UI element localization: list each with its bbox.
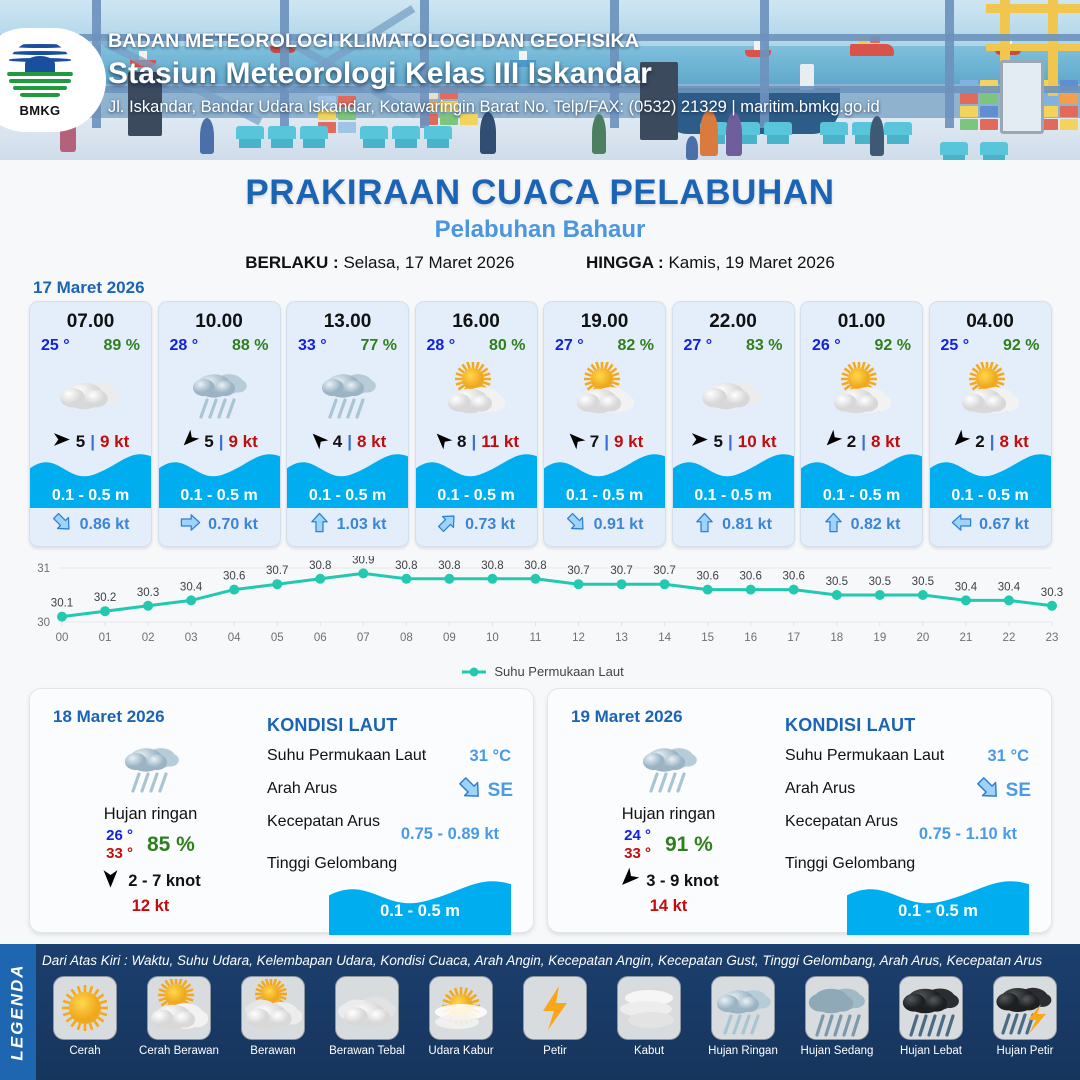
card-temperature: 33 ° [298, 337, 327, 355]
current-direction-icon [566, 512, 587, 538]
card-time: 01.00 [838, 311, 886, 333]
current-speed: 1.03 kt [337, 516, 387, 534]
legend-item-label: Cerah Berawan [139, 1045, 219, 1057]
legend-items-row: Cerah Cerah Berawan Berawan Berawan Teba… [42, 976, 1078, 1076]
panel-wind-range: 3 - 9 knot [646, 872, 718, 891]
card-humidity: 92 % [1003, 337, 1039, 355]
svg-text:30.2: 30.2 [94, 592, 116, 604]
crane-beam [986, 44, 1080, 51]
card-humidity: 83 % [746, 337, 782, 355]
svg-text:30.8: 30.8 [481, 560, 503, 572]
svg-text:30.5: 30.5 [869, 576, 891, 588]
hourly-card[interactable]: 13.00 33 ° 77 % 4 | 8 kt 0.1 - 0.5 m 1.0… [286, 301, 409, 547]
svg-text:07: 07 [357, 632, 370, 644]
daily-forecast-panel[interactable]: 19 Maret 2026 Hujan ringan 24 ° 33 ° 91 … [547, 688, 1052, 933]
card-time: 22.00 [709, 311, 757, 333]
legend-item: Cerah Berawan [136, 976, 222, 1076]
svg-text:30: 30 [37, 617, 50, 629]
legend-item-label: Kabut [634, 1045, 664, 1057]
sea-condition-heading: KONDISI LAUT [267, 715, 519, 736]
legend-item-label: Berawan [250, 1045, 295, 1057]
svg-text:30.7: 30.7 [653, 565, 675, 577]
svg-text:30.8: 30.8 [395, 560, 417, 572]
current-speed: 0.70 kt [208, 516, 258, 534]
card-weather-icon [825, 361, 899, 423]
card-time: 04.00 [966, 311, 1014, 333]
card-time: 19.00 [581, 311, 629, 333]
legend-item: Hujan Ringan [700, 976, 786, 1076]
card-temperature: 25 ° [41, 337, 70, 355]
svg-text:30.7: 30.7 [610, 565, 632, 577]
valid-from-value: Selasa, 17 Maret 2026 [343, 253, 514, 272]
current-speed: 0.73 kt [465, 516, 515, 534]
card-temperature: 28 ° [427, 337, 456, 355]
svg-text:30.3: 30.3 [1041, 587, 1063, 599]
panel-weather-icon [48, 729, 253, 803]
card-weather-icon [439, 361, 513, 423]
hourly-card[interactable]: 22.00 27 ° 83 % 5 | 10 kt 0.1 - 0.5 m 0.… [672, 301, 795, 547]
legend-note: Dari Atas Kiri : Waktu, Suhu Udara, Kele… [42, 953, 1042, 968]
svg-text:14: 14 [658, 632, 671, 644]
legend-section: LEGENDA Dari Atas Kiri : Waktu, Suhu Uda… [0, 944, 1080, 1080]
wave-height: 0.1 - 0.5 m [801, 487, 922, 505]
card-humidity: 88 % [232, 337, 268, 355]
svg-text:30.8: 30.8 [524, 560, 546, 572]
current-speed: 0.91 kt [594, 516, 644, 534]
wave-height: 0.1 - 0.5 m [159, 487, 280, 505]
person-figure [686, 136, 698, 160]
current-direction-value: SE [1006, 780, 1031, 802]
svg-text:12: 12 [572, 632, 585, 644]
hourly-date-label: 17 Maret 2026 [33, 278, 145, 298]
legend-item-label: Petir [543, 1045, 567, 1057]
panel-date: 18 Maret 2026 [53, 707, 165, 727]
chart-legend-marker [461, 666, 487, 678]
current-direction-icon [951, 512, 972, 538]
current-direction-icon [437, 512, 458, 538]
panel-temp-min: 26 ° [106, 827, 133, 845]
current-direction-value: SE [488, 780, 513, 802]
legend-item: Berawan [230, 976, 316, 1076]
svg-text:30.3: 30.3 [137, 587, 159, 599]
legend-item: Hujan Lebat [888, 976, 974, 1076]
card-temperature: 25 ° [941, 337, 970, 355]
panel-temp-max: 33 ° [106, 845, 133, 863]
legend-item: Udara Kabur [418, 976, 504, 1076]
page-header: BMKG BADAN METEOROLOGI KLIMATOLOGI DAN G… [0, 0, 1080, 160]
panel-condition: Hujan ringan [48, 805, 253, 824]
sea-condition-heading: KONDISI LAUT [785, 715, 1037, 736]
svg-text:30.4: 30.4 [998, 581, 1021, 593]
panel-current-direction-icon [458, 776, 483, 806]
svg-text:30.8: 30.8 [309, 560, 331, 572]
card-time: 07.00 [67, 311, 115, 333]
svg-text:31: 31 [37, 563, 50, 575]
svg-text:05: 05 [271, 632, 284, 644]
legend-item-label: Hujan Ringan [708, 1045, 778, 1057]
svg-text:18: 18 [830, 632, 843, 644]
legend-item-label: Udara Kabur [428, 1045, 493, 1057]
panel-gust: 14 kt [566, 897, 771, 916]
svg-text:22: 22 [1003, 632, 1016, 644]
wave-height: 0.1 - 0.5 m [30, 487, 151, 505]
current-speed-value: 0.75 - 0.89 kt [401, 825, 499, 844]
bmkg-logo: BMKG [0, 28, 106, 132]
current-direction-label: Arah Arus [785, 780, 855, 797]
legend-icon-hujan-ringan [711, 976, 775, 1040]
svg-text:30.6: 30.6 [740, 571, 762, 583]
card-weather-icon [182, 361, 256, 423]
card-weather-icon [54, 361, 128, 423]
legend-icon-cerah [53, 976, 117, 1040]
current-speed-value: 0.75 - 1.10 kt [919, 825, 1017, 844]
card-humidity: 77 % [361, 337, 397, 355]
legend-item-label: Cerah [69, 1045, 100, 1057]
svg-text:19: 19 [873, 632, 886, 644]
current-direction-icon [694, 512, 715, 538]
svg-text:23: 23 [1046, 632, 1059, 644]
header-station-name: Stasiun Meteorologi Kelas III Iskandar [108, 57, 880, 91]
header-organization: BADAN METEOROLOGI KLIMATOLOGI DAN GEOFIS… [108, 30, 880, 53]
hourly-card[interactable]: 16.00 28 ° 80 % 8 | 11 kt 0.1 - 0.5 m 0.… [415, 301, 538, 547]
current-speed: 0.82 kt [851, 516, 901, 534]
current-direction-icon [180, 512, 201, 538]
svg-text:30.6: 30.6 [696, 571, 718, 583]
person-figure [200, 118, 214, 154]
svg-text:30.5: 30.5 [826, 576, 848, 588]
card-humidity: 80 % [489, 337, 525, 355]
display-panel [1000, 60, 1044, 134]
chart-legend-label: Suhu Permukaan Laut [494, 664, 623, 679]
card-time: 13.00 [324, 311, 372, 333]
svg-text:30.4: 30.4 [955, 581, 978, 593]
card-weather-icon [696, 361, 770, 423]
valid-from-label: BERLAKU : [245, 253, 339, 272]
card-temperature: 27 ° [684, 337, 713, 355]
card-humidity: 82 % [618, 337, 654, 355]
daily-forecast-panel[interactable]: 18 Maret 2026 Hujan ringan 26 ° 33 ° 85 … [29, 688, 534, 933]
current-direction-icon [823, 512, 844, 538]
sst-chart: 303130.10030.20130.30230.40330.60430.705… [20, 556, 1065, 681]
svg-text:21: 21 [960, 632, 973, 644]
panel-gust: 12 kt [48, 897, 253, 916]
card-humidity: 92 % [875, 337, 911, 355]
card-temperature: 27 ° [555, 337, 584, 355]
svg-text:20: 20 [916, 632, 929, 644]
valid-until-value: Kamis, 19 Maret 2026 [668, 253, 834, 272]
legend-item-label: Hujan Lebat [900, 1045, 962, 1057]
svg-text:04: 04 [228, 632, 241, 644]
legend-item: Hujan Petir [982, 976, 1068, 1076]
daily-forecast-row: 18 Maret 2026 Hujan ringan 26 ° 33 ° 85 … [29, 688, 1053, 933]
svg-text:13: 13 [615, 632, 628, 644]
panel-wind-range: 2 - 7 knot [128, 872, 200, 891]
wave-height: 0.1 - 0.5 m [416, 487, 537, 505]
validity-row: BERLAKU : Selasa, 17 Maret 2026 HINGGA :… [0, 253, 1080, 273]
svg-text:30.5: 30.5 [912, 576, 934, 588]
card-temperature: 26 ° [812, 337, 841, 355]
card-humidity: 89 % [104, 337, 140, 355]
wave-height: 0.1 - 0.5 m [287, 487, 408, 505]
legend-item-label: Hujan Sedang [801, 1045, 874, 1057]
panel-temp-max: 33 ° [624, 845, 651, 863]
person-figure [480, 112, 496, 154]
valid-until-label: HINGGA : [586, 253, 664, 272]
current-direction-icon [309, 512, 330, 538]
card-time: 10.00 [195, 311, 243, 333]
svg-text:01: 01 [99, 632, 112, 644]
legend-item-label: Berawan Tebal [329, 1045, 405, 1057]
person-figure [870, 116, 884, 156]
bmkg-logo-text: BMKG [20, 103, 61, 118]
svg-text:03: 03 [185, 632, 198, 644]
panel-condition: Hujan ringan [566, 805, 771, 824]
person-figure [592, 114, 606, 154]
panel-humidity: 91 % [665, 833, 713, 857]
svg-text:11: 11 [530, 632, 542, 644]
current-speed: 0.81 kt [722, 516, 772, 534]
hourly-card[interactable]: 19.00 27 ° 82 % 7 | 9 kt 0.1 - 0.5 m 0.9… [543, 301, 666, 547]
current-speed: 0.67 kt [979, 516, 1029, 534]
header-text-block: BADAN METEOROLOGI KLIMATOLOGI DAN GEOFIS… [108, 30, 880, 117]
card-weather-icon [953, 361, 1027, 423]
svg-text:02: 02 [142, 632, 155, 644]
svg-text:30.6: 30.6 [223, 571, 245, 583]
legend-item: Berawan Tebal [324, 976, 410, 1076]
panel-current-direction-icon [976, 776, 1001, 806]
wave-height: 0.1 - 0.5 m [673, 487, 794, 505]
sst-value: 31 °C [470, 747, 511, 766]
legend-icon-berawan-sun [241, 976, 305, 1040]
panel-date: 19 Maret 2026 [571, 707, 683, 727]
legend-icon-petir [523, 976, 587, 1040]
sst-value: 31 °C [988, 747, 1029, 766]
panel-wave-value: 0.1 - 0.5 m [847, 902, 1029, 921]
svg-text:16: 16 [744, 632, 757, 644]
svg-text:09: 09 [443, 632, 456, 644]
svg-text:30.8: 30.8 [438, 560, 460, 572]
svg-text:10: 10 [486, 632, 499, 644]
legend-side-label: LEGENDA [8, 963, 28, 1060]
panel-wave-value: 0.1 - 0.5 m [329, 902, 511, 921]
chart-legend: Suhu Permukaan Laut [20, 664, 1065, 679]
legend-item: Petir [512, 976, 598, 1076]
hourly-forecast-row: 07.00 25 ° 89 % 5 | 9 kt 0.1 - 0.5 m 0.8… [29, 301, 1053, 547]
wave-height-label: Tinggi Gelombang [267, 855, 397, 872]
svg-text:30.9: 30.9 [352, 556, 374, 566]
person-figure [726, 112, 742, 156]
panel-temp-min: 24 ° [624, 827, 651, 845]
svg-text:00: 00 [56, 632, 69, 644]
legend-icon-berawan-tebal [335, 976, 399, 1040]
legend-icon-hujan-lebat [899, 976, 963, 1040]
legend-item: Cerah [42, 976, 128, 1076]
hourly-card[interactable]: 04.00 25 ° 92 % 2 | 8 kt 0.1 - 0.5 m 0.6… [929, 301, 1052, 547]
svg-text:30.4: 30.4 [180, 581, 203, 593]
card-weather-icon [568, 361, 642, 423]
svg-text:15: 15 [701, 632, 714, 644]
legend-item-label: Hujan Petir [997, 1045, 1054, 1057]
page-subtitle: Pelabuhan Bahaur [0, 216, 1080, 244]
legend-icon-cerah-berawan [147, 976, 211, 1040]
page-title: PRAKIRAAN CUACA PELABUHAN [0, 173, 1080, 213]
current-speed: 0.86 kt [80, 516, 130, 534]
svg-text:17: 17 [787, 632, 800, 644]
legend-side-tab: LEGENDA [0, 944, 36, 1080]
legend-icon-hujan-sedang [805, 976, 869, 1040]
card-weather-icon [311, 361, 385, 423]
svg-text:30.1: 30.1 [51, 598, 73, 610]
title-block: PRAKIRAAN CUACA PELABUHAN Pelabuhan Baha… [0, 173, 1080, 273]
header-address: Jl. Iskandar, Bandar Udara Iskandar, Kot… [108, 98, 880, 117]
svg-text:08: 08 [400, 632, 413, 644]
bmkg-logo-emblem [7, 40, 73, 102]
card-time: 16.00 [452, 311, 500, 333]
legend-item: Hujan Sedang [794, 976, 880, 1076]
current-speed-label: Kecepatan Arus [785, 813, 898, 830]
hourly-card[interactable]: 01.00 26 ° 92 % 2 | 8 kt 0.1 - 0.5 m 0.8… [800, 301, 923, 547]
svg-text:30.7: 30.7 [266, 565, 288, 577]
current-speed-label: Kecepatan Arus [267, 813, 380, 830]
legend-icon-kabut [617, 976, 681, 1040]
header-terminal-floor [0, 118, 1080, 160]
hourly-card[interactable]: 07.00 25 ° 89 % 5 | 9 kt 0.1 - 0.5 m 0.8… [29, 301, 152, 547]
wave-height-label: Tinggi Gelombang [785, 855, 915, 872]
sst-label: Suhu Permukaan Laut [267, 747, 426, 764]
hourly-card[interactable]: 10.00 28 ° 88 % 5 | 9 kt 0.1 - 0.5 m 0.7… [158, 301, 281, 547]
legend-icon-udara-kabur [429, 976, 493, 1040]
sst-label: Suhu Permukaan Laut [785, 747, 944, 764]
current-direction-label: Arah Arus [267, 780, 337, 797]
crane-boom [986, 4, 1080, 13]
legend-item: Kabut [606, 976, 692, 1076]
svg-text:30.7: 30.7 [567, 565, 589, 577]
svg-text:30.6: 30.6 [783, 571, 805, 583]
wave-height: 0.1 - 0.5 m [930, 487, 1051, 505]
panel-wind-direction-icon [100, 868, 121, 894]
wave-height: 0.1 - 0.5 m [544, 487, 665, 505]
card-temperature: 28 ° [170, 337, 199, 355]
panel-weather-icon [566, 729, 771, 803]
current-direction-icon [52, 512, 73, 538]
svg-text:06: 06 [314, 632, 327, 644]
panel-humidity: 85 % [147, 833, 195, 857]
panel-wind-direction-icon [618, 868, 639, 894]
legend-icon-hujan-petir [993, 976, 1057, 1040]
